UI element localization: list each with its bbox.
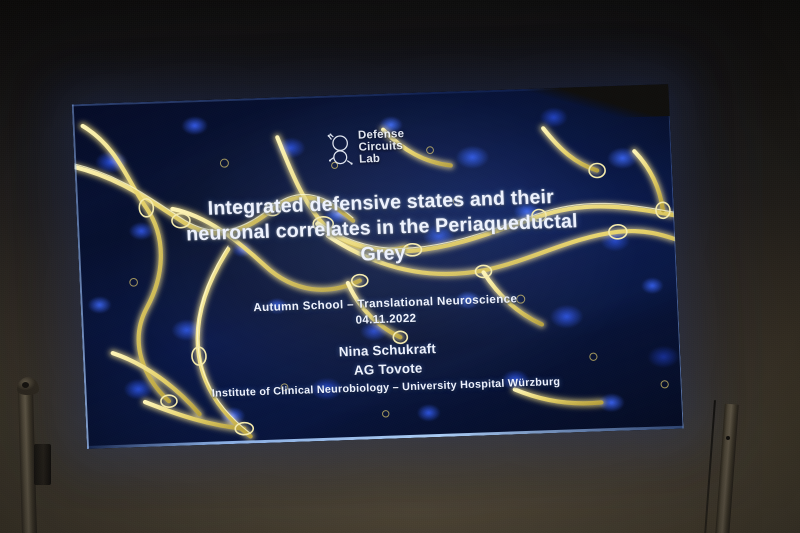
neuron-figure-eight-icon bbox=[327, 132, 354, 167]
stand-cap-hole bbox=[22, 382, 29, 388]
slide-surface: Defense Circuits Lab Integrated defensiv… bbox=[72, 84, 684, 449]
logo-line-3: Lab bbox=[359, 153, 406, 166]
stand-clamp bbox=[34, 444, 51, 485]
logo-wordmark: Defense Circuits Lab bbox=[358, 129, 406, 166]
event-info: Autumn School – Translational Neuroscien… bbox=[116, 286, 654, 337]
slide-title: Integrated defensive states and their ne… bbox=[106, 181, 658, 277]
projection-screen[interactable]: Defense Circuits Lab Integrated defensiv… bbox=[72, 84, 684, 449]
defense-circuits-lab-logo: Defense Circuits Lab bbox=[327, 129, 406, 167]
logo-line-2: Circuits bbox=[358, 141, 405, 154]
slide-content: Defense Circuits Lab Integrated defensiv… bbox=[72, 84, 684, 449]
room-photo: Defense Circuits Lab Integrated defensiv… bbox=[0, 0, 800, 533]
stand-screw bbox=[726, 436, 730, 440]
